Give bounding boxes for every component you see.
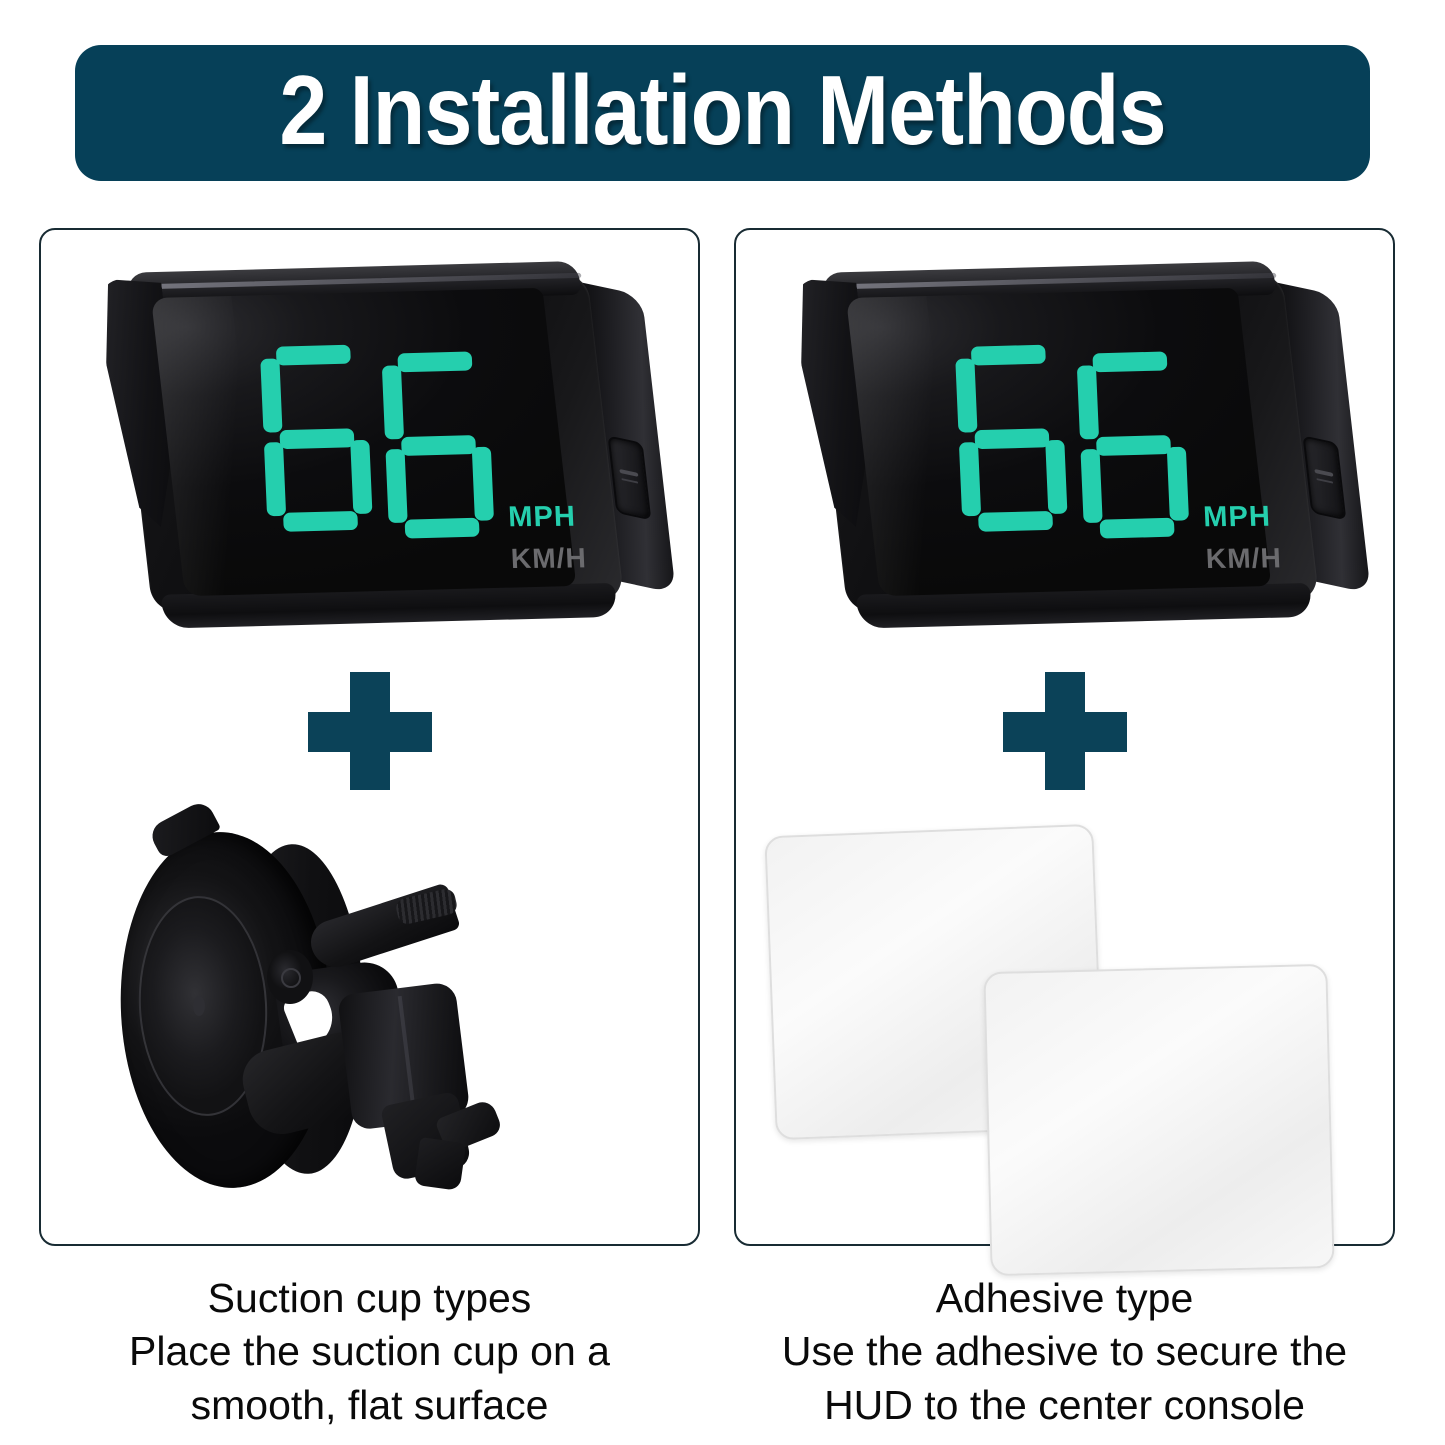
plus-vertical-bar [350, 672, 390, 790]
segment-top [1092, 351, 1167, 372]
segment-top-left [1076, 365, 1098, 439]
speed-digit-units [1076, 351, 1188, 539]
segment-bottom [404, 518, 479, 539]
segment-middle [974, 428, 1049, 449]
speed-digit-tens [954, 344, 1066, 532]
usb-slot [619, 469, 638, 477]
usb-slot [1314, 469, 1333, 477]
hud-top-seam [846, 273, 1276, 289]
lever-grip-pad [394, 887, 458, 926]
segment-bottom-left [1080, 449, 1102, 523]
unit-label-mph: MPH [507, 501, 576, 534]
hud-device-suction: MPH KM/H [112, 256, 632, 656]
speed-digit-tens [259, 344, 371, 532]
caption-heading: Suction cup types [39, 1272, 700, 1325]
caption-line: Place the suction cup on a [39, 1325, 700, 1378]
segment-middle [279, 428, 354, 449]
segment-bottom [283, 511, 358, 532]
segment-bottom-left [958, 442, 980, 516]
page-title: 2 Installation Methods [279, 61, 1165, 159]
segment-bottom-left [263, 442, 285, 516]
suction-cup-mount-image [95, 810, 615, 1220]
segment-middle [1095, 435, 1170, 456]
caption-adhesive: Adhesive type Use the adhesive to secure… [734, 1272, 1395, 1432]
caption-line: HUD to the center console [734, 1379, 1395, 1432]
pivot-screw-icon [281, 968, 301, 988]
hud-body: MPH KM/H [115, 273, 624, 613]
segment-top [275, 345, 350, 366]
caption-suction-cup: Suction cup types Place the suction cup … [39, 1272, 700, 1432]
installation-method-panel-suction-cup: MPH KM/H [39, 228, 700, 1246]
caption-line: Use the adhesive to secure the [734, 1325, 1395, 1378]
barrel-seam [398, 996, 417, 1116]
segment-top [397, 351, 472, 372]
installation-method-panel-adhesive: MPH KM/H [734, 228, 1395, 1246]
plus-icon [1003, 672, 1127, 790]
segment-bottom [1099, 518, 1174, 539]
lever-pivot [267, 950, 313, 1004]
segment-bottom [978, 511, 1053, 532]
header-banner: 2 Installation Methods [75, 45, 1370, 181]
plus-icon [308, 672, 432, 790]
caption-line: smooth, flat surface [39, 1379, 700, 1432]
plus-vertical-bar [1045, 672, 1085, 790]
hud-screen: MPH KM/H [151, 288, 576, 596]
unit-label-kmh: KM/H [510, 542, 587, 575]
segment-top [970, 345, 1045, 366]
speed-digit-units [381, 351, 493, 539]
segment-bottom-right [471, 447, 493, 521]
segment-bottom-right [1166, 447, 1188, 521]
segment-top-left [260, 358, 282, 432]
unit-label-mph: MPH [1202, 501, 1271, 534]
suction-cup-center-nub [193, 996, 205, 1016]
segment-bottom-right [350, 440, 372, 514]
unit-label-kmh: KM/H [1205, 542, 1282, 575]
segment-top-left [955, 358, 977, 432]
hud-screen: MPH KM/H [846, 288, 1271, 596]
segment-bottom-right [1045, 440, 1067, 514]
hud-device-adhesive: MPH KM/H [807, 256, 1327, 656]
caption-heading: Adhesive type [734, 1272, 1395, 1325]
hud-top-seam [151, 273, 581, 289]
hud-body: MPH KM/H [810, 273, 1319, 613]
mount-foot-tip-secondary [414, 1137, 466, 1191]
adhesive-pads-image [762, 820, 1372, 1240]
adhesive-pad [983, 964, 1334, 1276]
segment-middle [400, 435, 475, 456]
segment-bottom-left [385, 449, 407, 523]
segment-top-left [381, 365, 403, 439]
